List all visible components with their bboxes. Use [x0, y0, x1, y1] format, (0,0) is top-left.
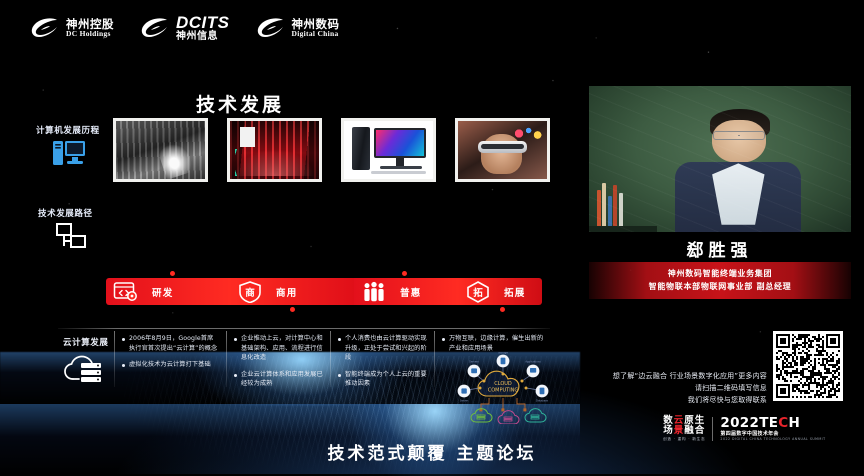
bullet-text: 虚拟化技术为云计算打下基础 — [129, 360, 211, 370]
bullet-text: 2006年8月9日，Google首席执行官首次提出“云计算”的概念 — [129, 334, 219, 353]
event-logo-line2: 场景融合 — [663, 426, 705, 436]
dcits-swoosh-icon — [140, 17, 170, 39]
forum-title: 技术范式颠覆 主题论坛 — [0, 439, 864, 464]
timeline-dot — [402, 271, 407, 276]
speaker-hair — [710, 109, 770, 138]
timeline-label-expansion: 拓展 — [504, 285, 525, 299]
column-personal-cloud: 个人消费也由云计算驱动实现升级，正处于尝试和兴起的阶段 智能终端成为个人上云的重… — [330, 332, 434, 394]
qr-code-icon[interactable] — [773, 331, 843, 401]
dc-swoosh-icon — [30, 17, 60, 39]
timeline-segment-commercial[interactable]: 商 商用 — [230, 278, 354, 305]
bullet-text: 万物互联，边缘计算，催生出新的产业和应用场景 — [449, 334, 547, 353]
timeline-segment-rd[interactable]: 研发 — [106, 278, 230, 305]
cloud-node-label: Server — [460, 398, 469, 402]
logo-dc-holdings-en: DC Holdings — [66, 30, 114, 38]
event-year-tech: 2022TECH — [720, 416, 825, 431]
speaker-video-feed[interactable] — [589, 86, 851, 232]
timeline-label-rd: 研发 — [152, 285, 173, 299]
cloud-computing-diagram: CLOUD COMPUTING Storage Servers Applicat — [454, 352, 552, 424]
digital-china-swoosh-icon — [256, 17, 286, 39]
bullet-dot-icon — [338, 374, 341, 377]
event-logo-cn: 数云原生 场景融合 创造 · 重构 · 新生态 — [663, 416, 705, 441]
list-item: 企业云计算体系和应用发展已经较为成熟 — [234, 370, 323, 389]
slide-title: 技术发展 — [196, 90, 284, 117]
row-label-computer-history: 计算机发展历程 — [36, 124, 100, 136]
speaker-suit — [675, 162, 801, 232]
speaker-title-banner: 神州数码智能终端业务集团 智能物联本部物联网事业部 副总经理 — [589, 262, 851, 299]
hexagon-tuo-icon: 拓 — [465, 281, 491, 303]
list-item: 万物互联，边缘计算，催生出新的产业和应用场景 — [442, 334, 547, 353]
qr-text-line1: 想了解“边云融合 行业场景数字化应用”更多内容 — [587, 370, 767, 382]
bullet-text: 企业云计算体系和应用发展已经较为成熟 — [241, 370, 323, 389]
timeline-label-commercial: 商用 — [276, 285, 297, 299]
slide-content: 技术发展 计算机发展历程 技术发展路径 — [0, 70, 575, 400]
column-2006-concept: 2006年8月9日，Google首席执行官首次提出“云计算”的概念 虚拟化技术为… — [114, 332, 226, 394]
column-cloud-development-label: 云计算发展 — [58, 332, 114, 394]
bullets-divider — [58, 328, 550, 329]
timeline-dot — [170, 271, 175, 276]
timeline-segment-expansion[interactable]: 拓 拓展 — [458, 278, 542, 305]
svg-text:拓: 拓 — [473, 287, 483, 299]
row-label-cloud-development: 云计算发展 — [63, 336, 109, 348]
speaker-face — [712, 120, 766, 164]
timeline-dot — [500, 307, 505, 312]
cloud-center-label-1: CLOUD — [494, 381, 512, 387]
list-item: 虚拟化技术为云计算打下基础 — [122, 360, 219, 370]
photo-strip — [113, 118, 550, 182]
bookshelf-decor — [597, 179, 639, 229]
desktop-computer-icon — [52, 138, 86, 172]
timeline-segment-inclusive[interactable]: 普惠 — [354, 278, 458, 305]
event-year: 2022 — [720, 415, 759, 431]
speaker-panel: 郄胜强 神州数码智能终端业务集团 智能物联本部物联网事业部 副总经理 想了解“边… — [575, 0, 864, 474]
logo-digital-china-en: Digital China — [292, 30, 340, 38]
bullet-dot-icon — [442, 338, 445, 341]
logo-dcits-en: DCITS — [176, 14, 230, 32]
presentation-stage: 神州控股 DC Holdings DCITS 神州信息 神州数码 Digital… — [0, 0, 864, 474]
vr-headset-photo — [455, 118, 550, 182]
historical-computer-photo — [113, 118, 208, 182]
list-item: 企业推动上云，对计算中心和基础架构、应用、流程进行信息化改造 — [234, 334, 323, 363]
technology-timeline: 研发 商 商用 普惠 — [106, 278, 542, 305]
speaker-glasses — [713, 131, 764, 140]
speaker-org-line1: 神州数码智能终端业务集团 — [589, 267, 851, 280]
bullet-dot-icon — [234, 338, 237, 341]
speaker-name: 郄胜强 — [575, 236, 864, 261]
flowchart-icon — [56, 222, 86, 254]
list-item: 智能终端成为个人上云的重要推动因素 — [338, 370, 427, 389]
qr-instruction-text: 想了解“边云融合 行业场景数字化应用”更多内容 请扫描二维码填写信息 我们将尽快… — [587, 370, 767, 406]
cloud-server-icon — [62, 350, 106, 388]
row-label-tech-path: 技术发展路径 — [38, 207, 93, 219]
shield-shang-icon: 商 — [237, 281, 263, 303]
list-item: 2006年8月9日，Google首席执行官首次提出“云计算”的概念 — [122, 334, 219, 353]
cloud-node-label: Servers — [469, 360, 479, 364]
logo-dcits-cn: 神州信息 — [176, 32, 230, 43]
cloud-center-label-2: COMPUTING — [488, 388, 519, 394]
brand-logo-bar: 神州控股 DC Holdings DCITS 神州信息 神州数码 Digital… — [30, 14, 340, 42]
code-gear-icon — [113, 281, 139, 303]
event-logo: 数云原生 场景融合 创造 · 重构 · 新生态 2022TECH 第四届数字中国… — [663, 416, 826, 441]
timeline-label-inclusive: 普惠 — [400, 285, 421, 299]
bullet-dot-icon — [234, 374, 237, 377]
desktop-pc-photo — [341, 118, 436, 182]
bullet-dot-icon — [122, 364, 125, 367]
qr-text-line2: 请扫描二维码填写信息 — [587, 382, 767, 394]
cloud-node-label: Applications — [525, 360, 541, 364]
speaker-shirt — [712, 163, 764, 224]
cloud-node-label: Storage — [498, 352, 508, 355]
column-enterprise-cloud: 企业推动上云，对计算中心和基础架构、应用、流程进行信息化改造 企业云计算体系和应… — [226, 332, 330, 394]
svg-text:商: 商 — [245, 287, 255, 299]
speaker-org-line2: 智能物联本部物联网事业部 副总经理 — [589, 280, 851, 293]
list-item: 个人消费也由云计算驱动实现升级，正处于尝试和兴起的阶段 — [338, 334, 427, 363]
cloud-node-label: Database — [536, 398, 548, 402]
event-logo-en: 2022TECH 第四届数字中国技术年会 2022 DIGITAL CHINA … — [720, 416, 825, 441]
bullet-dot-icon — [122, 338, 125, 341]
logo-dc-holdings: 神州控股 DC Holdings — [30, 17, 114, 39]
bullet-text: 智能终端成为个人上云的重要推动因素 — [345, 370, 427, 389]
qr-text-line3: 我们将尽快与您取得联系 — [587, 394, 767, 406]
logo-digital-china: 神州数码 Digital China — [256, 17, 340, 39]
bullet-dot-icon — [338, 338, 341, 341]
timeline-dot — [290, 307, 295, 312]
shelf-line — [589, 226, 657, 232]
bullet-text: 个人消费也由云计算驱动实现升级，正处于尝试和兴起的阶段 — [345, 334, 427, 363]
bullet-text: 企业推动上云，对计算中心和基础架构、应用、流程进行信息化改造 — [241, 334, 323, 363]
logo-dcits: DCITS 神州信息 — [140, 14, 230, 42]
logo-divider — [712, 417, 713, 441]
people-group-icon — [361, 281, 387, 303]
supercomputer-photo — [227, 118, 322, 182]
